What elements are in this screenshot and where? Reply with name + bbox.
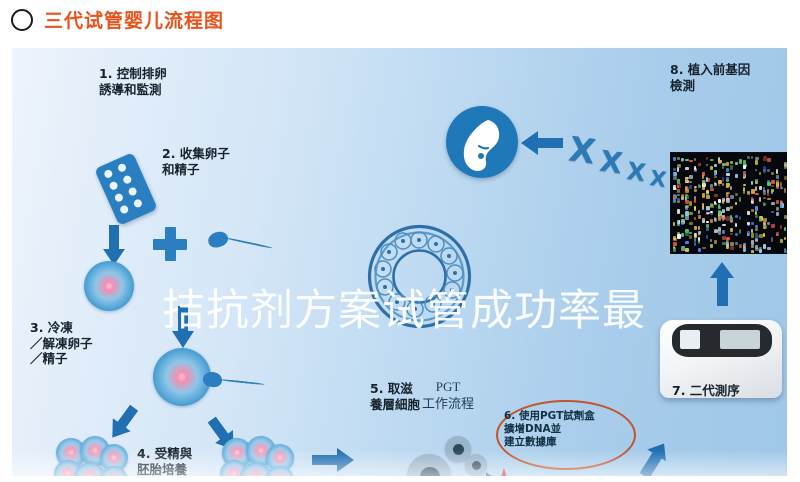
blue-arrow-icon [709,262,735,306]
embryo-cluster-icon [54,436,132,476]
chromosome-icon-3: X [625,157,647,187]
blue-arrow-icon [103,225,125,265]
step-3-label: 3. 冷凍 ／解凍卵子 ／精子 [30,320,93,367]
dna-gel-image [670,152,787,254]
step-4-label: 4. 受精與 胚胎培養 [137,446,192,476]
pgt-caption-line1: PGT [403,378,493,395]
step-7-label: 7. 二代測序 [672,383,740,399]
pgt-caption-line2: 工作流程 [403,395,493,412]
plus-sign-icon [153,227,187,261]
page-title: 三代试管婴儿流程图 [44,6,224,33]
fetus-circle-icon [446,106,518,178]
circle-outline-icon [11,9,33,31]
sperm-icon [208,228,274,254]
workflow-diagram-panel: 1. 控制排卵 誘導和監測 2. 收集卵子 和精子 3. 冷凍 ／解凍卵子 ／精… [12,48,787,476]
page-header: 三代试管婴儿流程图 [0,0,800,42]
pill-blister-icon [94,152,158,226]
blue-arrow-icon [312,448,354,472]
chromosome-icon-1: X [566,129,598,172]
step-8-label: 8. 植入前基因 檢測 [670,62,750,93]
blue-arrow-icon [521,130,565,156]
sperm-icon [203,370,267,394]
chromosome-icon-4: X [648,166,667,192]
red-star-icon: ★ [489,466,519,476]
overlay-watermark-text: 拮抗剂方案试管成功率最 [162,276,646,338]
embryo-cluster-icon [220,436,298,476]
step-2-label: 2. 收集卵子 和精子 [162,146,230,177]
trophectoderm-cell-icon [407,436,487,476]
chromosome-icon-2: X [598,144,625,181]
pgt-caption: PGT 工作流程 [403,378,493,412]
screenshot-root: 三代试管婴儿流程图 1. 控制排卵 誘導和監測 2. 收集卵子 和精子 [0,0,800,482]
egg-cell-icon [84,261,134,311]
step-6-label: 6. 使用PGT試劑盒 擴增DNA並 建立數據庫 [504,410,630,449]
step-1-label: 1. 控制排卵 誘導和監測 [99,66,167,97]
blue-arrow-icon [631,436,681,476]
